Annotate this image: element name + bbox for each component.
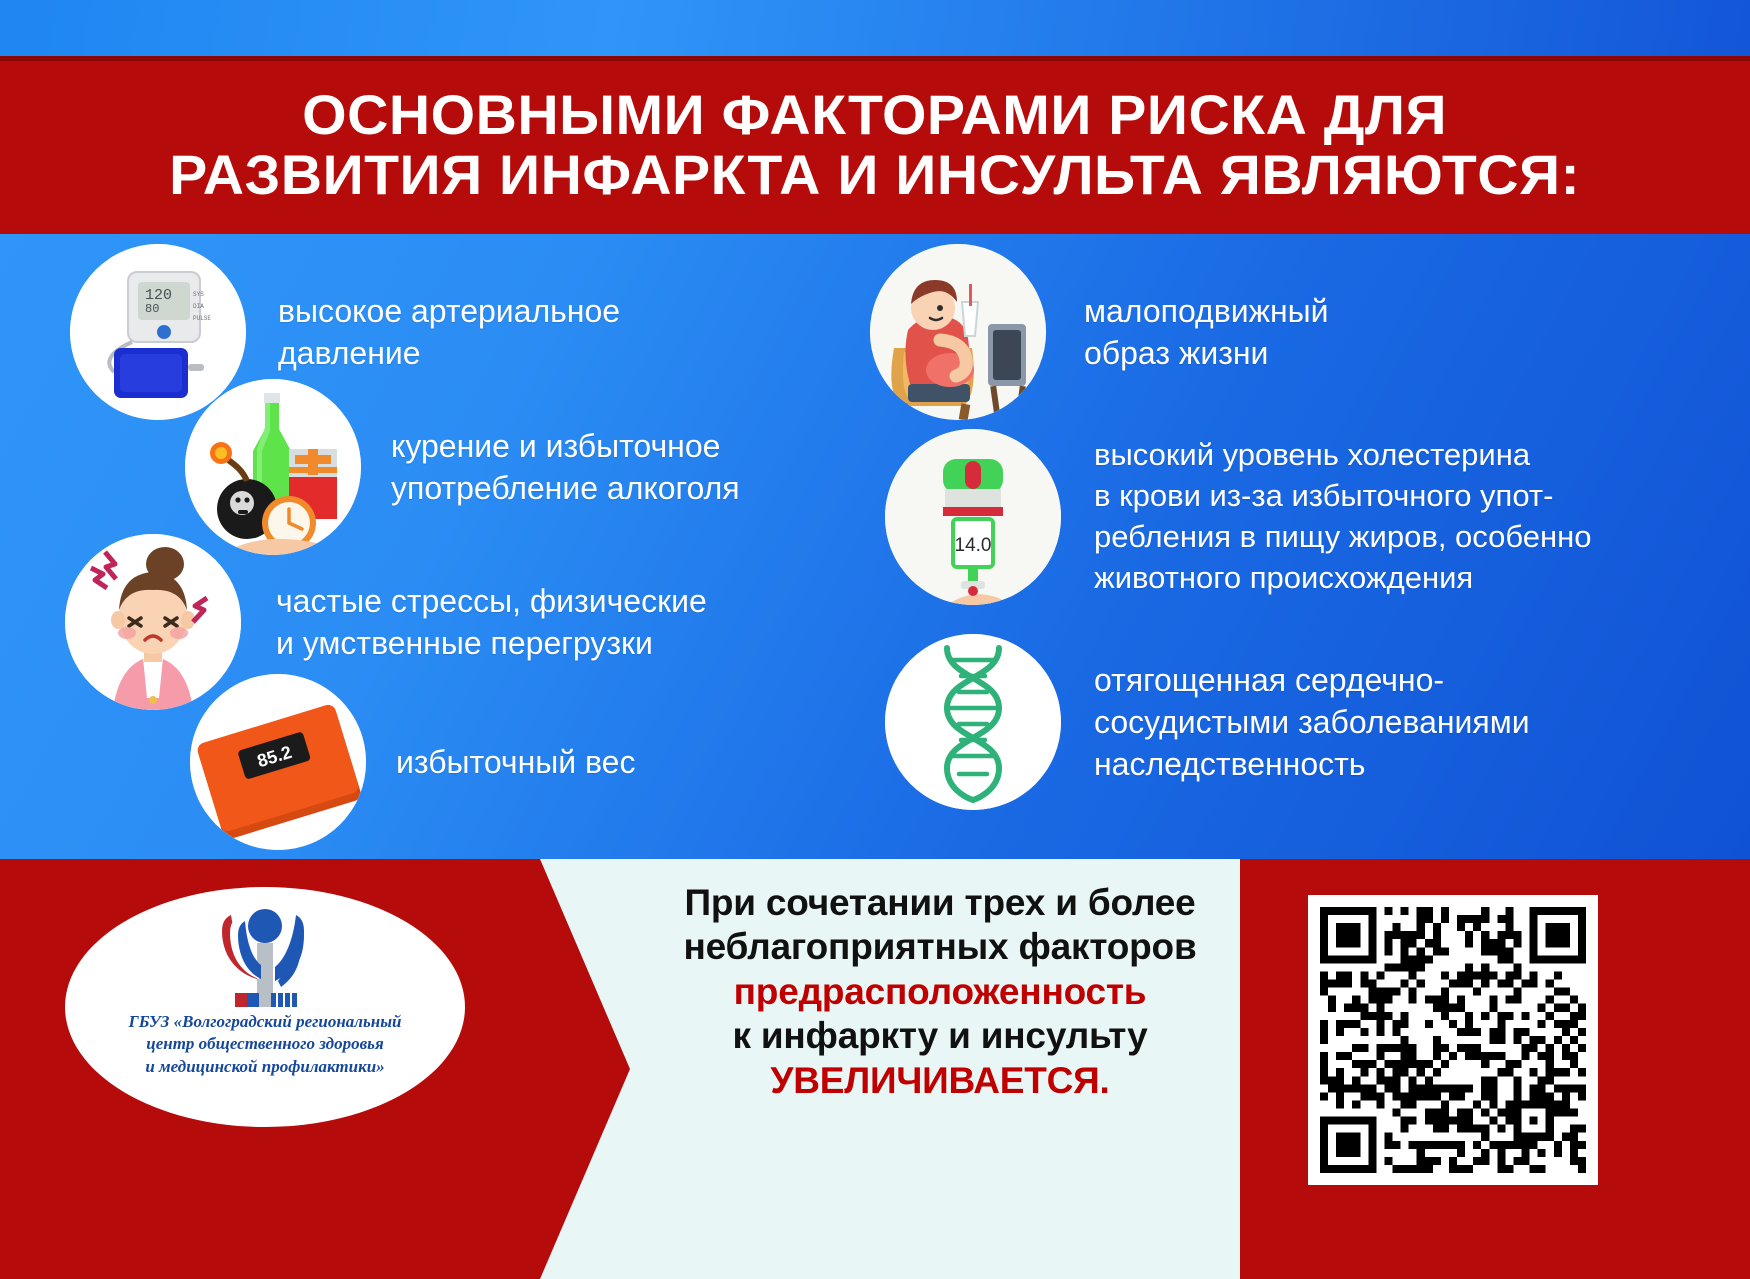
footer-band: ГБУЗ «Волгоградский региональный центр о…	[0, 859, 1750, 1279]
svg-text:14.0: 14.0	[955, 535, 992, 556]
cholesterol-meter-icon: 14.0	[885, 429, 1061, 605]
factor-sedentary-lifestyle: малоподвижный образ жизни	[870, 244, 1329, 420]
cta-line-5: УВЕЛИЧИВАЕТСЯ.	[630, 1059, 1250, 1103]
alcohol-cigarettes-bomb-icon	[185, 379, 361, 555]
organization-name: ГБУЗ «Волгоградский региональный центр о…	[129, 1011, 402, 1078]
header-top-rule	[0, 56, 1750, 61]
dna-helix-icon	[885, 634, 1061, 810]
factor-excess-weight: 85.2 избыточный вес	[190, 674, 635, 850]
organization-logo: ГБУЗ «Волгоградский региональный центр о…	[65, 887, 465, 1127]
factors-column-right: малоподвижный образ жизни 14.0	[870, 234, 1750, 859]
factor-label: высокое артериальное давление	[278, 290, 620, 374]
cta-line-1: При сочетании трех и более	[630, 881, 1250, 925]
man-watching-tv-icon	[870, 244, 1046, 420]
factors-column-left: 120 80 SYS DIA PULSE высокое	[60, 234, 890, 859]
factor-smoking-alcohol: курение и избыточное употребление алкого…	[185, 379, 740, 555]
call-to-action-block: При сочетании трех и более неблагоприятн…	[630, 881, 1250, 1103]
factor-label: отягощенная сердечно- сосудистыми заболе…	[1094, 659, 1530, 786]
top-blue-strip	[0, 0, 1750, 56]
svg-text:DIA: DIA	[193, 303, 204, 310]
header-band: ОСНОВНЫМИ ФАКТОРАМИ РИСКА ДЛЯ РАЗВИТИЯ И…	[0, 56, 1750, 234]
page-title: ОСНОВНЫМИ ФАКТОРАМИ РИСКА ДЛЯ РАЗВИТИЯ И…	[129, 85, 1622, 206]
factor-high-cholesterol: 14.0 высокий уровень холестерина в крови…	[885, 429, 1592, 605]
ministry-of-health-person-icon	[165, 901, 365, 1007]
qr-code-icon[interactable]	[1308, 895, 1598, 1185]
factor-label: малоподвижный образ жизни	[1084, 290, 1329, 374]
qr-canvas	[1320, 907, 1586, 1173]
svg-text:SYS: SYS	[193, 291, 204, 298]
cta-line-2: неблагоприятных факторов	[630, 925, 1250, 969]
factors-area: 120 80 SYS DIA PULSE высокое	[0, 234, 1750, 859]
poster-root: ОСНОВНЫМИ ФАКТОРАМИ РИСКА ДЛЯ РАЗВИТИЯ И…	[0, 0, 1750, 1279]
factor-label: избыточный вес	[396, 741, 635, 783]
svg-text:PULSE: PULSE	[193, 315, 211, 322]
bathroom-scale-icon: 85.2	[190, 674, 366, 850]
cta-line-3: предрасположенность	[630, 970, 1250, 1014]
factor-heredity: отягощенная сердечно- сосудистыми заболе…	[885, 634, 1530, 810]
factor-label: курение и избыточное употребление алкого…	[391, 425, 740, 509]
factor-label: частые стрессы, физические и умственные …	[276, 580, 707, 664]
cta-line-4: к инфаркту и инсульту	[630, 1014, 1250, 1058]
factor-label: высокий уровень холестерина в крови из-з…	[1094, 435, 1592, 599]
svg-text:80: 80	[145, 302, 159, 316]
